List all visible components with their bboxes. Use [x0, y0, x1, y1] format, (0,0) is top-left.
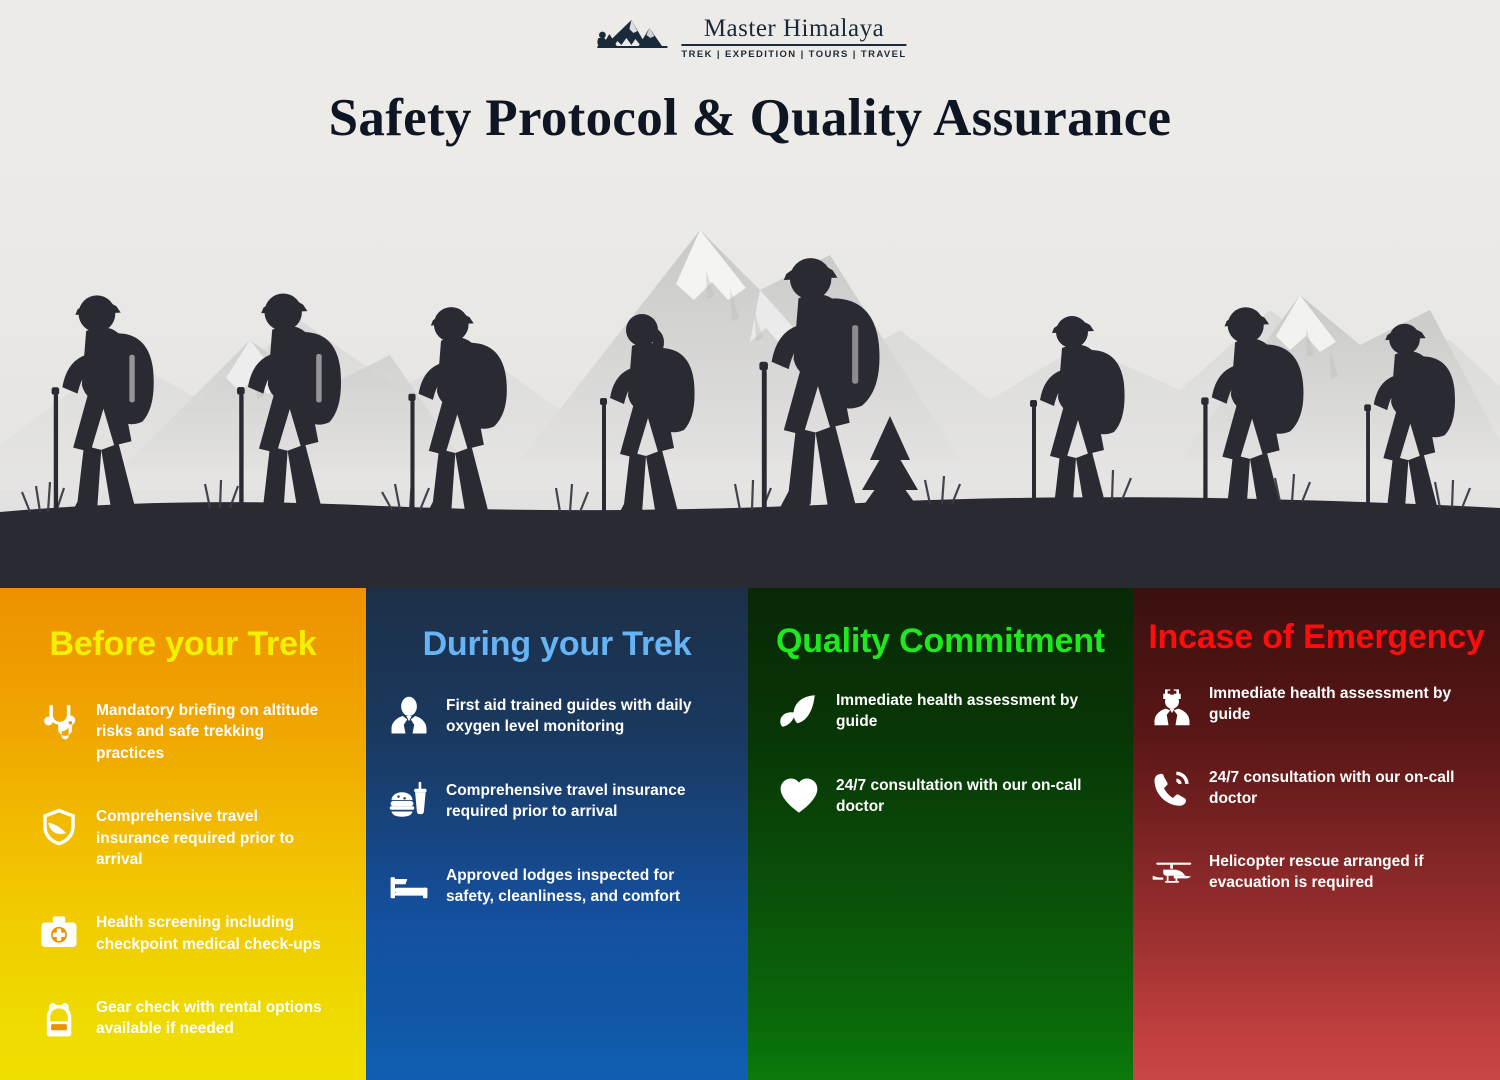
list-item[interactable]: Mandatory briefing on altitude risks and… [38, 698, 330, 764]
column-items: First aid trained guides with daily oxyg… [366, 693, 748, 947]
column-heading: Quality Commitment [748, 622, 1133, 661]
list-item[interactable]: 24/7 consultation with our on-call docto… [1151, 767, 1478, 811]
list-item-text: Immediate health assessment by guide [836, 688, 1093, 733]
info-columns: Before your Trek Mandatory briefing on a… [0, 588, 1500, 1080]
column-heading: During your Trek [366, 625, 748, 664]
hiker-silhouette-scene [0, 160, 1500, 588]
brand-tagline: TREK | EXPEDITION | TOURS | TRAVEL [681, 49, 906, 60]
leaf-icon [778, 690, 820, 732]
meal-icon [388, 780, 430, 822]
column-items: Mandatory briefing on altitude risks and… [0, 698, 366, 1080]
column-heading: Incase of Emergency [1133, 618, 1500, 657]
list-item[interactable]: Comprehensive travel insurance required … [388, 778, 716, 823]
list-item[interactable]: Health screening including checkpoint me… [38, 910, 330, 955]
column-items: Immediate health assessment by guide 24/… [748, 688, 1133, 858]
list-item-text: Comprehensive travel insurance required … [446, 778, 716, 823]
list-item-text: Helicopter rescue arranged if evacuation… [1209, 851, 1478, 894]
doctor-icon [388, 695, 430, 737]
list-item[interactable]: Immediate health assessment by guide [1151, 683, 1478, 727]
heart-icon [778, 775, 820, 817]
list-item-text: Comprehensive travel insurance required … [96, 804, 330, 870]
helicopter-icon [1151, 853, 1193, 895]
list-item-text: First aid trained guides with daily oxyg… [446, 693, 716, 738]
column-incase-of-emergency: Incase of Emergency Immediate health ass… [1133, 588, 1500, 1080]
page-title: Safety Protocol & Quality Assurance [0, 88, 1500, 148]
list-item[interactable]: 24/7 consultation with our on-call docto… [778, 773, 1093, 818]
brand-name: Master Himalaya [704, 16, 884, 42]
list-item[interactable]: Gear check with rental options available… [38, 995, 330, 1040]
list-item[interactable]: Helicopter rescue arranged if evacuation… [1151, 851, 1478, 895]
list-item[interactable]: Immediate health assessment by guide [778, 688, 1093, 733]
nurse-icon [1151, 685, 1193, 727]
list-item[interactable]: Approved lodges inspected for safety, cl… [388, 863, 716, 908]
first-aid-kit-icon [38, 912, 80, 954]
list-item[interactable]: First aid trained guides with daily oxyg… [388, 693, 716, 738]
list-item-text: Immediate health assessment by guide [1209, 683, 1478, 726]
column-quality-commitment: Quality Commitment Immediate health asse… [748, 588, 1133, 1080]
mountain-logo-icon [593, 14, 671, 62]
column-before-your-trek: Before your Trek Mandatory briefing on a… [0, 588, 366, 1080]
phone-ringing-icon [1151, 769, 1193, 811]
brand-divider [681, 44, 906, 46]
page-header: Master Himalaya TREK | EXPEDITION | TOUR… [0, 0, 1500, 160]
shield-icon [38, 806, 80, 848]
list-item-text: Mandatory briefing on altitude risks and… [96, 698, 330, 764]
stethoscope-icon [38, 700, 80, 742]
list-item-text: Approved lodges inspected for safety, cl… [446, 863, 716, 908]
column-heading: Before your Trek [0, 625, 366, 664]
bed-icon [388, 865, 430, 907]
brand-logo[interactable]: Master Himalaya TREK | EXPEDITION | TOUR… [593, 14, 906, 62]
list-item-text: Health screening including checkpoint me… [96, 910, 330, 955]
list-item-text: 24/7 consultation with our on-call docto… [1209, 767, 1478, 810]
hero-banner [0, 160, 1500, 588]
backpack-icon [38, 997, 80, 1039]
list-item[interactable]: Comprehensive travel insurance required … [38, 804, 330, 870]
list-item-text: 24/7 consultation with our on-call docto… [836, 773, 1093, 818]
list-item-text: Gear check with rental options available… [96, 995, 330, 1040]
column-items: Immediate health assessment by guide 24/… [1133, 683, 1500, 935]
column-during-your-trek: During your Trek First aid trained guide… [366, 588, 748, 1080]
